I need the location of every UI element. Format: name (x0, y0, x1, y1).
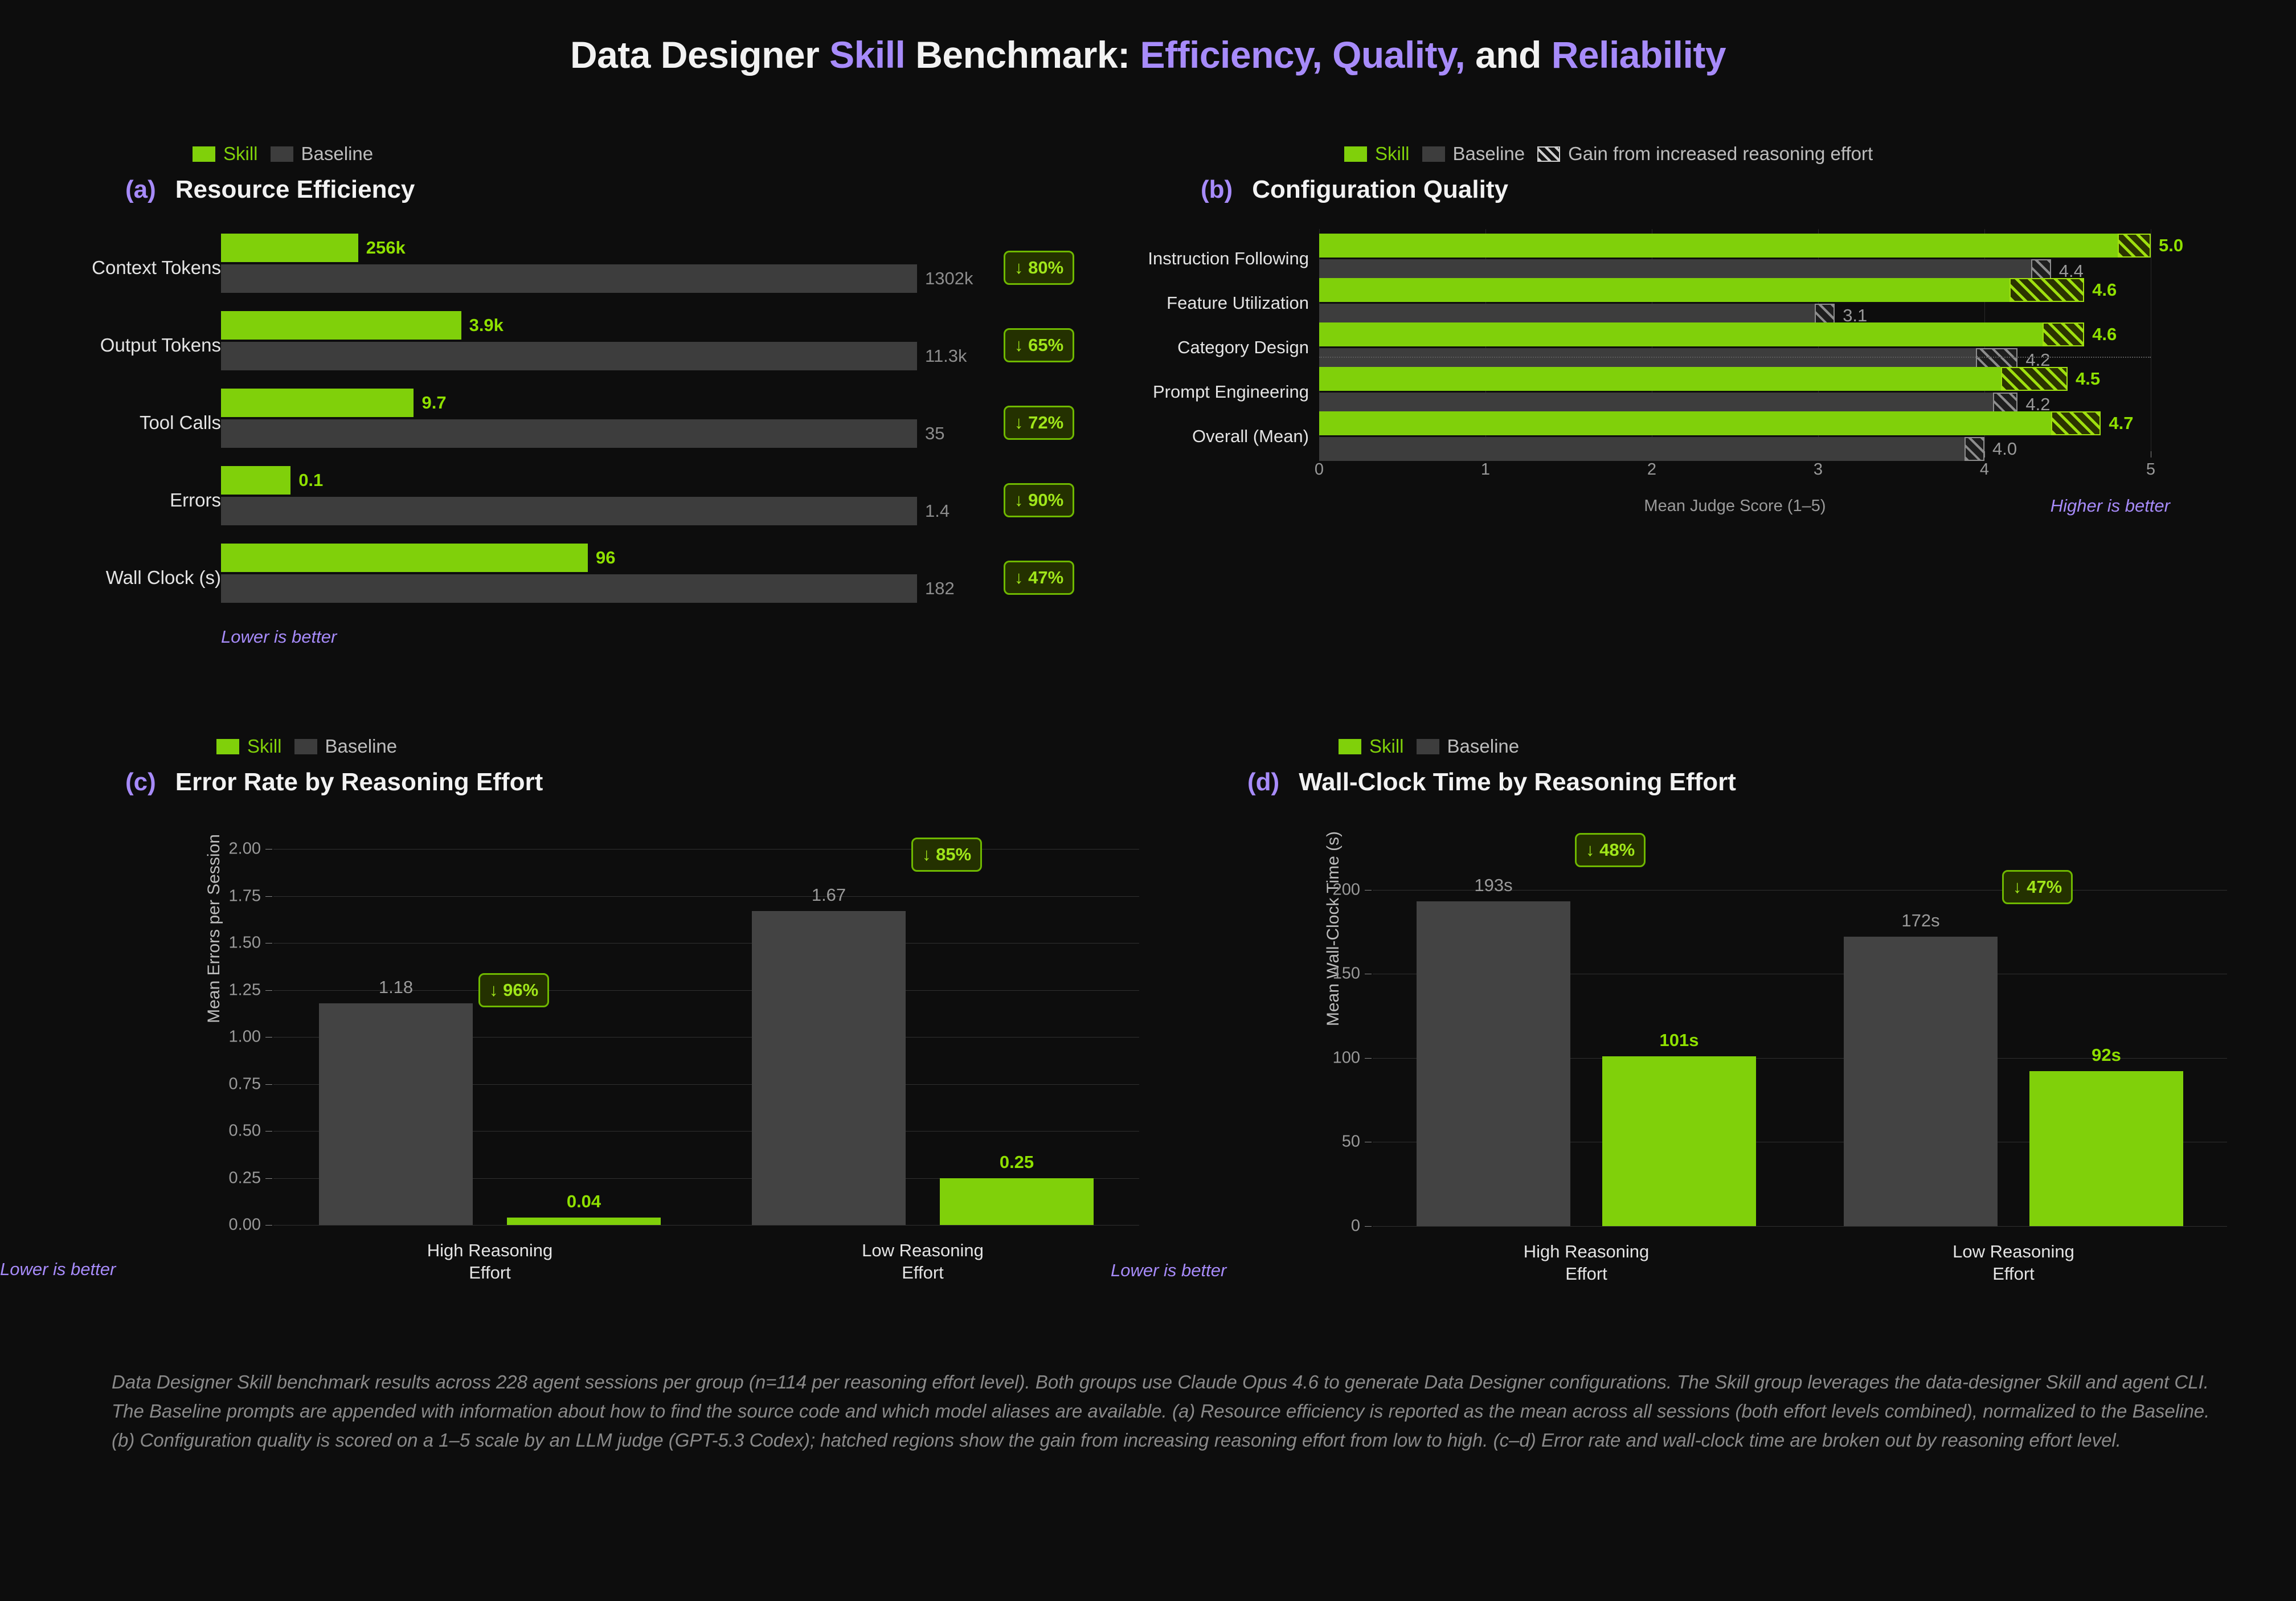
title-efficiency: Efficiency, (1140, 34, 1323, 76)
legend-label-baseline: Baseline (301, 143, 374, 165)
skill-bar[interactable]: 101s (1602, 1056, 1756, 1226)
y-tick (1365, 1058, 1372, 1059)
y-tick (1365, 890, 1372, 891)
baseline-bar[interactable]: 193s (1417, 901, 1570, 1226)
y-tick (1365, 1226, 1372, 1227)
skill-bar-value: 4.6 (2092, 324, 2117, 345)
panel-d-title: Wall-Clock Time by Reasoning Effort (1299, 768, 1736, 797)
x-tick-label: 5 (2146, 460, 2155, 479)
plot-gridlines: 050100150200193s101sHigh ReasoningEffort… (1373, 873, 2227, 1226)
skill-bar-value: 3.9k (469, 315, 504, 336)
reduction-badge: ↓ 47% (2002, 870, 2073, 904)
panel-resource-efficiency: Skill Baseline (a) Resource Efficiency C… (51, 142, 1122, 647)
legend-panel-b: Skill Baseline Gain from increased reaso… (1344, 142, 2244, 165)
panel-wall-clock: Skill Baseline (d) Wall-Clock Time by Re… (1173, 735, 2244, 1031)
y-tick-label: 2.00 (187, 840, 261, 859)
legend-item-skill: Skill (193, 143, 258, 165)
legend-panel-a: Skill Baseline (193, 142, 1122, 165)
baseline-bar[interactable]: 35 (221, 419, 917, 448)
baseline-bar[interactable]: 11.3k (221, 342, 917, 370)
skill-bar-value: 256k (366, 238, 406, 258)
row-bars: 0.11.4 (221, 466, 917, 525)
row-label: Category Design (1177, 337, 1309, 358)
bar-value: 0.04 (567, 1191, 601, 1212)
category-label: High ReasoningEffort (1484, 1241, 1689, 1285)
skill-bar[interactable]: 4.5 (1319, 367, 2068, 391)
title-skill: Skill (829, 34, 905, 76)
panel-d-tag: (d) (1247, 768, 1279, 797)
panel-note: Lower is better (0, 1259, 116, 1280)
figure-caption: Data Designer Skill benchmark results ac… (112, 1367, 2236, 1455)
legend-item-baseline: Baseline (294, 736, 398, 757)
skill-bar[interactable]: 5.0 (1319, 234, 2151, 258)
baseline-swatch-icon (1422, 146, 1445, 162)
y-tick-label: 1.50 (187, 934, 261, 953)
legend-item-skill: Skill (1344, 143, 1410, 165)
hatch-swatch-icon (1537, 146, 1560, 162)
baseline-bar-value: 35 (925, 423, 944, 444)
skill-bar-value: 5.0 (2159, 235, 2183, 256)
resource-row: Errors0.11.4↓ 90% (51, 461, 1122, 539)
baseline-bar-value: 11.3k (925, 346, 967, 366)
panel-c-tag: (c) (125, 768, 156, 797)
y-tick-label: 1.75 (187, 887, 261, 905)
row-bars: 256k1302k (221, 234, 917, 293)
y-tick-label: 0 (1303, 1217, 1360, 1236)
gain-hatch (2043, 322, 2084, 346)
row-label: Instruction Following (1148, 248, 1309, 269)
reduction-badge: ↓ 85% (911, 838, 982, 872)
panel-b-header: (b) Configuration Quality (1201, 175, 2244, 204)
group-separator (1319, 357, 2151, 358)
reduction-badge: ↓ 96% (478, 973, 549, 1007)
row-label: Errors (170, 489, 221, 511)
quality-row: Instruction Following5.04.4 (1319, 234, 2151, 283)
baseline-bar-value: 4.0 (1992, 439, 2017, 459)
reduction-badge: ↓ 90% (1004, 483, 1074, 517)
row-bars: 9.735 (221, 389, 917, 448)
baseline-bar[interactable]: 4.0 (1319, 437, 1984, 461)
skill-bar-value: 4.6 (2092, 280, 2117, 300)
baseline-bar-value: 1.4 (925, 501, 949, 521)
resource-row: Output Tokens3.9k11.3k↓ 65% (51, 307, 1122, 384)
title-part-3: and (1465, 34, 1552, 76)
y-tick (265, 943, 272, 944)
legend-label-skill: Skill (223, 143, 258, 165)
gridline (273, 943, 1139, 944)
baseline-bar[interactable]: 1.67 (752, 911, 906, 1225)
baseline-bar-value: 1302k (925, 268, 973, 289)
gain-hatch (2118, 234, 2151, 258)
panel-b-plot: 012345 Mean Judge Score (1–5) Higher is … (1319, 229, 2151, 451)
skill-swatch-icon (193, 146, 215, 162)
skill-bar[interactable]: 4.7 (1319, 411, 2101, 435)
skill-bar[interactable]: 256k (221, 234, 358, 262)
row-bars: 3.9k11.3k (221, 311, 917, 370)
panel-c-header: (c) Error Rate by Reasoning Effort (125, 768, 1122, 797)
gridline (273, 896, 1139, 897)
resource-row: Tool Calls9.735↓ 72% (51, 384, 1122, 461)
panel-d-header: (d) Wall-Clock Time by Reasoning Effort (1247, 768, 2244, 797)
legend-item-baseline: Baseline (1417, 736, 1520, 757)
baseline-swatch-icon (1417, 739, 1439, 754)
bar-value: 1.18 (379, 977, 413, 998)
panel-a-note: Lower is better (221, 627, 1122, 647)
y-tick (265, 1037, 272, 1038)
skill-bar-value: 96 (596, 548, 615, 568)
skill-swatch-icon (1344, 146, 1367, 162)
gain-hatch (2009, 278, 2084, 302)
baseline-bar-value: 182 (925, 578, 955, 599)
legend-item-baseline: Baseline (1422, 143, 1525, 165)
panel-a-rows: Context Tokens256k1302k↓ 80%Output Token… (51, 229, 1122, 616)
row-bars: 96182 (221, 544, 917, 603)
y-tick-label: 0.75 (187, 1075, 261, 1093)
y-tick (265, 896, 272, 897)
baseline-swatch-icon (271, 146, 293, 162)
reduction-badge: ↓ 48% (1575, 833, 1646, 867)
baseline-bar[interactable]: 1302k (221, 264, 917, 293)
skill-bar-value: 9.7 (421, 393, 446, 413)
plot-gridlines: 0.000.250.500.751.001.251.501.752.001.18… (273, 849, 1139, 1225)
legend-item-baseline: Baseline (271, 143, 374, 165)
row-label: Prompt Engineering (1153, 382, 1309, 402)
bar-value: 193s (1474, 875, 1512, 896)
panel-note: Lower is better (1111, 1260, 1226, 1281)
bar-value: 1.67 (812, 885, 846, 905)
y-tick (265, 1084, 272, 1085)
bar-value: 0.25 (1000, 1152, 1034, 1173)
gain-hatch (1965, 437, 1984, 461)
skill-bar-value: 4.7 (2109, 413, 2133, 434)
reduction-badge: ↓ 80% (1004, 251, 1074, 285)
skill-swatch-icon (1339, 739, 1361, 754)
skill-bar[interactable]: 96 (221, 544, 588, 572)
panel-d-ylabel: Mean Wall-Clock Time (s) (1324, 831, 1343, 1026)
skill-bar[interactable]: 4.6 (1319, 278, 2084, 302)
bar-value: 92s (2092, 1045, 2121, 1065)
skill-bar[interactable]: 0.25 (940, 1178, 1094, 1226)
gridline (273, 1225, 1139, 1226)
x-tick-label: 0 (1315, 460, 1324, 479)
legend-label-baseline: Baseline (1453, 143, 1525, 165)
y-tick-label: 0.00 (187, 1216, 261, 1235)
legend-item-skill: Skill (216, 736, 282, 757)
legend-label-baseline: Baseline (325, 736, 398, 757)
y-tick-label: 0.50 (187, 1122, 261, 1141)
bar-value: 172s (1901, 910, 1939, 931)
legend-item-skill: Skill (1339, 736, 1404, 757)
quality-row: Category Design4.64.2 (1319, 322, 2151, 372)
x-tick-label: 4 (1980, 460, 1989, 479)
panel-a-tag: (a) (125, 175, 156, 204)
title-part-1: Data Designer (570, 34, 829, 76)
y-tick-label: 50 (1303, 1133, 1360, 1151)
y-tick-label: 150 (1303, 965, 1360, 983)
row-label: Tool Calls (140, 412, 221, 434)
skill-swatch-icon (216, 739, 239, 754)
row-label: Wall Clock (s) (106, 567, 221, 589)
skill-bar[interactable]: 4.6 (1319, 322, 2084, 346)
baseline-swatch-icon (294, 739, 317, 754)
gain-hatch (2051, 411, 2101, 435)
legend-label-skill: Skill (247, 736, 282, 757)
skill-bar[interactable]: 9.7 (221, 389, 414, 417)
y-tick (265, 1225, 272, 1226)
quality-row: Overall (Mean)4.74.0 (1319, 411, 2151, 461)
row-label: Feature Utilization (1167, 293, 1309, 313)
x-tick (2151, 451, 2151, 458)
x-tick-label: 1 (1481, 460, 1490, 479)
panel-c-title: Error Rate by Reasoning Effort (175, 768, 543, 797)
bar-value: 101s (1660, 1030, 1699, 1051)
y-tick (265, 1131, 272, 1132)
reduction-badge: ↓ 72% (1004, 406, 1074, 440)
resource-row: Context Tokens256k1302k↓ 80% (51, 229, 1122, 307)
category-label: High ReasoningEffort (387, 1240, 592, 1284)
panel-b-note: Higher is better (2051, 496, 2170, 516)
category-label: Low ReasoningEffort (1911, 1241, 2116, 1285)
panel-b-title: Configuration Quality (1252, 175, 1508, 204)
baseline-bar[interactable]: 1.18 (319, 1003, 473, 1225)
panel-b-tag: (b) (1201, 175, 1233, 204)
title-part-2: Benchmark: (905, 34, 1140, 76)
gridline (1373, 1226, 2227, 1227)
x-tick-label: 3 (1814, 460, 1823, 479)
legend-label-hatch: Gain from increased reasoning effort (1568, 143, 1873, 165)
y-tick-label: 0.25 (187, 1169, 261, 1187)
panel-configuration-quality: Skill Baseline Gain from increased reaso… (1173, 142, 2244, 451)
figure-title: Data Designer Skill Benchmark: Efficienc… (0, 0, 2296, 76)
quality-row: Feature Utilization4.63.1 (1319, 278, 2151, 328)
gridline (273, 849, 1139, 849)
skill-bar-value: 0.1 (298, 470, 323, 491)
legend-item-hatch: Gain from increased reasoning effort (1537, 143, 1873, 165)
skill-bar[interactable]: 92s (2029, 1071, 2183, 1226)
row-label: Context Tokens (92, 257, 221, 279)
x-tick-label: 2 (1647, 460, 1656, 479)
legend-label-skill: Skill (1375, 143, 1410, 165)
gain-hatch (2001, 367, 2068, 391)
y-tick (265, 849, 272, 849)
panel-a-title: Resource Efficiency (175, 175, 415, 204)
title-reliability: Reliability (1552, 34, 1726, 76)
legend-panel-d: Skill Baseline (1339, 735, 2244, 758)
panel-error-rate: Skill Baseline (c) Error Rate by Reasoni… (51, 735, 1122, 1031)
y-tick-label: 100 (1303, 1048, 1360, 1067)
y-tick (265, 1178, 272, 1179)
baseline-bar[interactable]: 172s (1844, 937, 1998, 1226)
legend-label-skill: Skill (1369, 736, 1404, 757)
baseline-bar[interactable]: 182 (221, 574, 917, 603)
y-tick-label: 1.25 (187, 981, 261, 999)
skill-bar[interactable]: 3.9k (221, 311, 461, 340)
y-tick-label: 1.00 (187, 1028, 261, 1047)
resource-row: Wall Clock (s)96182↓ 47% (51, 539, 1122, 616)
panel-b-xlabel: Mean Judge Score (1–5) (1319, 497, 2151, 516)
reduction-badge: ↓ 65% (1004, 328, 1074, 362)
quality-row: Prompt Engineering4.54.2 (1319, 367, 2151, 416)
legend-label-baseline: Baseline (1447, 736, 1520, 757)
skill-bar[interactable]: 0.04 (507, 1218, 661, 1225)
skill-bar[interactable]: 0.1 (221, 466, 290, 495)
y-tick-label: 200 (1303, 880, 1360, 899)
category-label: Low ReasoningEffort (820, 1240, 1025, 1284)
y-tick (265, 990, 272, 991)
legend-panel-c: Skill Baseline (216, 735, 1122, 758)
row-label: Output Tokens (100, 334, 221, 356)
row-label: Overall (Mean) (1192, 426, 1309, 447)
y-tick (1365, 974, 1372, 974)
baseline-bar[interactable]: 1.4 (221, 497, 917, 525)
panel-c-plot: Mean Errors per Session 0.000.250.500.75… (51, 826, 1122, 1031)
title-quality: Quality, (1322, 34, 1465, 76)
y-tick (1365, 1142, 1372, 1142)
panel-a-header: (a) Resource Efficiency (125, 175, 1122, 204)
skill-bar-value: 4.5 (2076, 369, 2100, 389)
gridline (2151, 229, 2151, 451)
reduction-badge: ↓ 47% (1004, 561, 1074, 595)
panel-d-plot: Mean Wall-Clock Time (s) 050100150200193… (1173, 826, 2244, 1031)
